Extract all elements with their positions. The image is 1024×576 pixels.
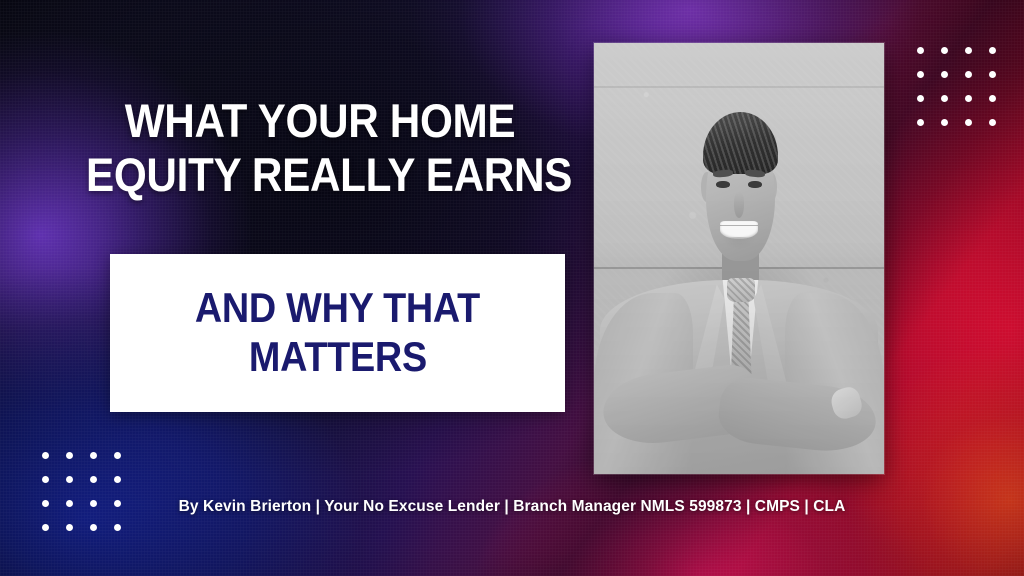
dot: [965, 47, 972, 54]
dot: [90, 500, 97, 507]
dot: [90, 476, 97, 483]
byline-caption: By Kevin Brierton | Your No Excuse Lende…: [160, 498, 864, 516]
dot: [42, 500, 49, 507]
dot: [66, 524, 73, 531]
dot: [941, 47, 948, 54]
headline-line-1: WHAT YOUR HOME: [86, 98, 554, 144]
dot: [42, 476, 49, 483]
dot: [989, 95, 996, 102]
dot: [941, 95, 948, 102]
subtitle-line-2: MATTERS: [248, 336, 426, 379]
dot: [989, 47, 996, 54]
dot: [941, 119, 948, 126]
dot: [989, 71, 996, 78]
dot-grid-top-right: [908, 38, 1004, 134]
dot: [66, 500, 73, 507]
dot: [965, 119, 972, 126]
dot: [917, 95, 924, 102]
dot: [42, 452, 49, 459]
dot: [941, 71, 948, 78]
dot: [965, 95, 972, 102]
dot: [114, 476, 121, 483]
headline: WHAT YOUR HOME EQUITY REALLY EARNS: [60, 98, 580, 198]
portrait-grayscale-grade: [594, 43, 884, 474]
dot: [917, 71, 924, 78]
dot: [66, 452, 73, 459]
dot: [114, 524, 121, 531]
dot: [42, 524, 49, 531]
dot: [114, 500, 121, 507]
dot: [917, 119, 924, 126]
social-graphic-canvas: WHAT YOUR HOME EQUITY REALLY EARNS AND W…: [0, 0, 1024, 576]
dot: [965, 71, 972, 78]
dot: [66, 476, 73, 483]
dot: [90, 524, 97, 531]
dot: [989, 119, 996, 126]
dot-grid-bottom-left: [33, 443, 129, 539]
portrait-photo: [594, 43, 884, 474]
subtitle-box: AND WHY THAT MATTERS: [110, 254, 565, 412]
subtitle-line-1: AND WHY THAT: [195, 287, 480, 330]
dot: [90, 452, 97, 459]
headline-line-2: EQUITY REALLY EARNS: [86, 152, 554, 198]
dot: [917, 47, 924, 54]
dot: [114, 452, 121, 459]
